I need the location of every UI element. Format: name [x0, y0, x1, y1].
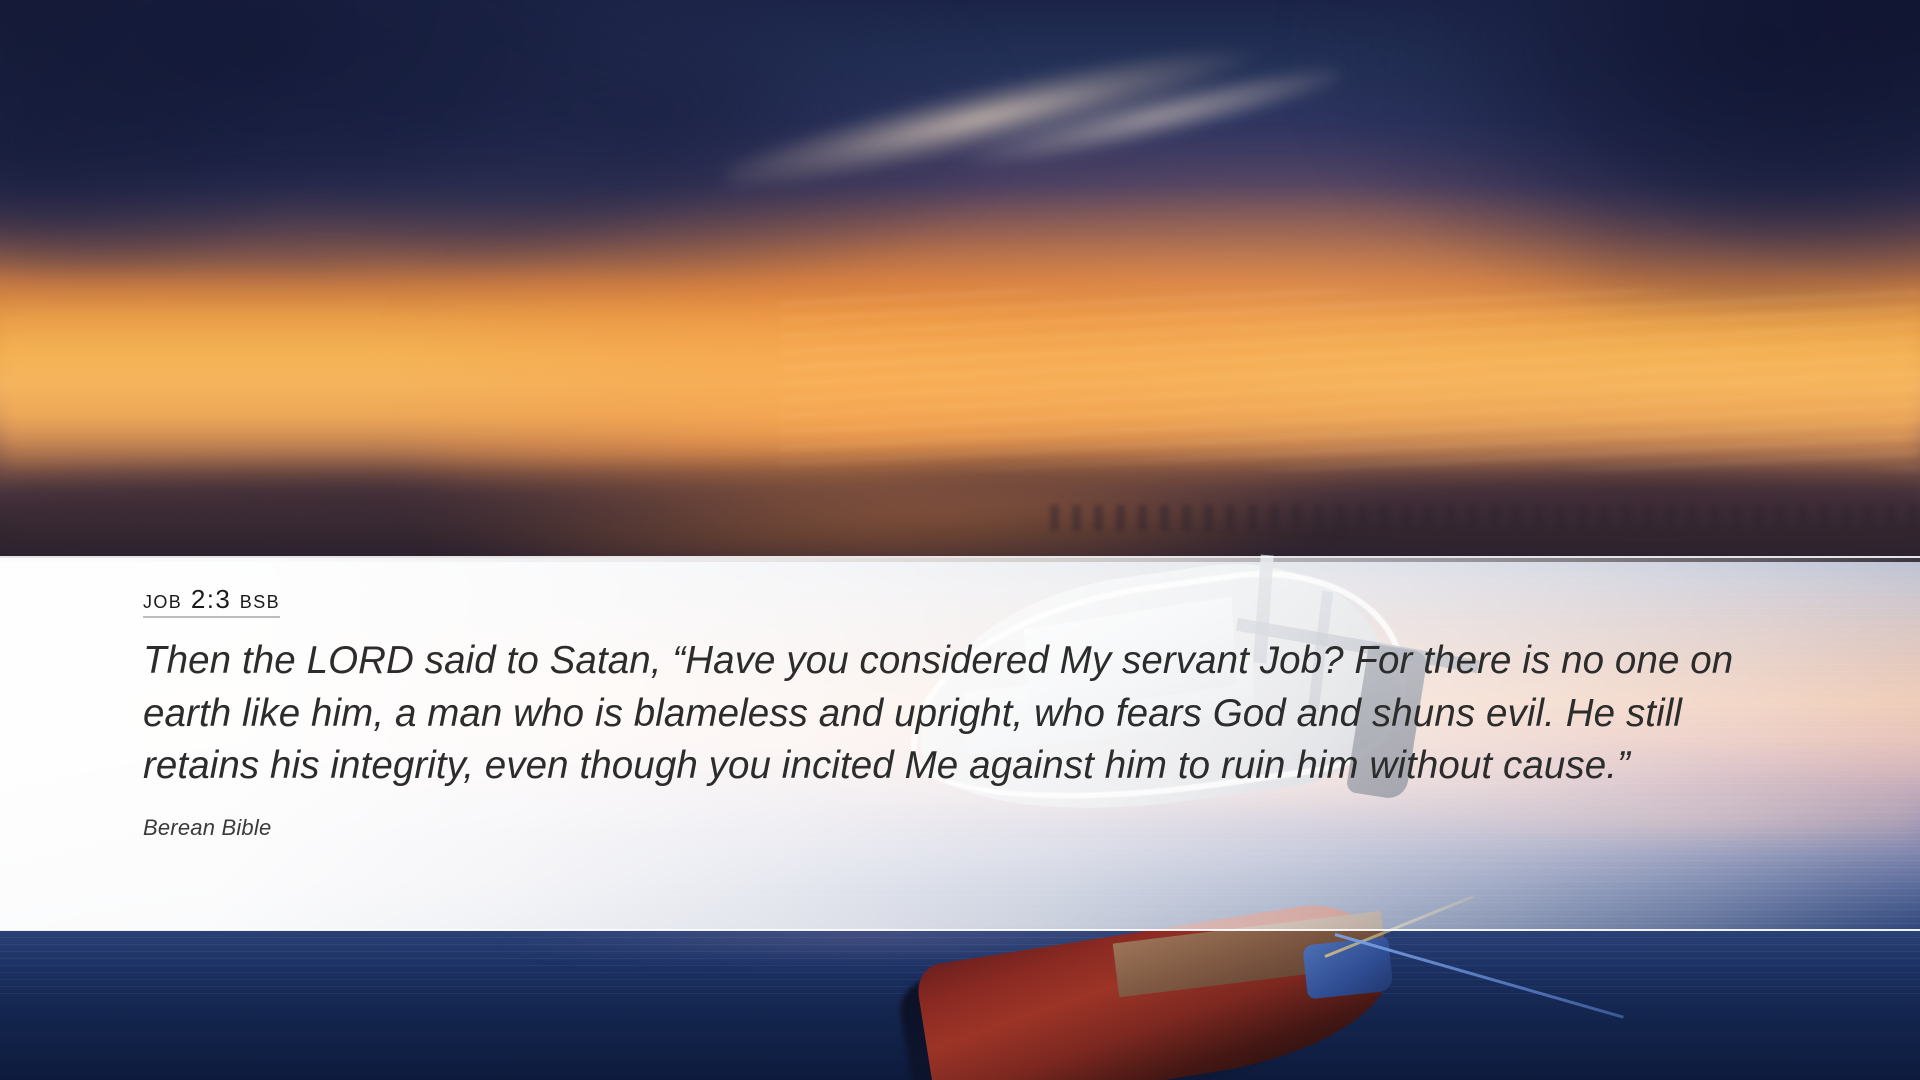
low-cloud-bank	[0, 430, 1920, 550]
scripture-quote-text: Then the LORD said to Satan, “Have you c…	[143, 635, 1783, 793]
quote-content: Job 2:3 BSB Then the LORD said to Satan,…	[0, 558, 1920, 930]
scripture-reference: Job 2:3 BSB	[143, 586, 280, 618]
verse-image-canvas: Job 2:3 BSB Then the LORD said to Satan,…	[0, 0, 1920, 1080]
translation-attribution: Berean Bible	[143, 815, 1920, 841]
distant-shoreline	[1050, 505, 1920, 531]
vignette-top-right	[1160, 0, 1920, 440]
vignette-top-left	[0, 0, 620, 380]
